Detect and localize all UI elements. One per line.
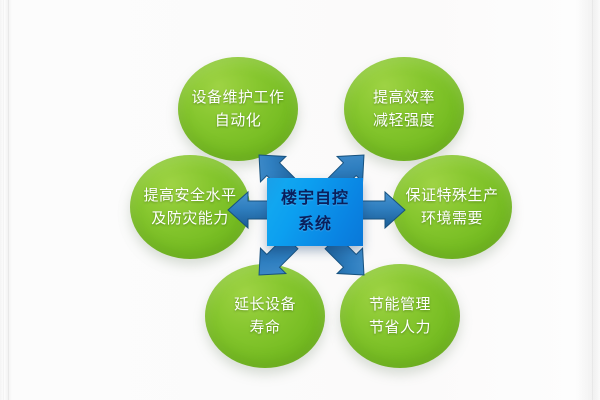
center-node-line-2: 系统 — [298, 213, 332, 237]
bubble-right-line-2: 环境需要 — [421, 207, 483, 230]
bubble-top-right-line-2: 减轻强度 — [373, 109, 435, 132]
bubble-left-line-2: 及防灾能力 — [151, 207, 229, 230]
bubble-right[interactable]: 保证特殊生产 环境需要 — [392, 155, 512, 259]
bubble-top-left-line-1: 设备维护工作 — [191, 86, 284, 109]
arrow-right-icon — [357, 186, 407, 234]
bubble-bottom-left-line-2: 寿命 — [249, 316, 280, 339]
bubble-top-right-line-1: 提高效率 — [373, 86, 435, 109]
bubble-top-left-line-2: 自动化 — [215, 109, 262, 132]
edge-line-decoration — [8, 0, 9, 400]
bubble-left-line-1: 提高安全水平 — [143, 184, 236, 207]
diagram-canvas: 设备维护工作 自动化 提高效率 减轻强度 提高安全水平 及防灾能力 保证特殊生产… — [0, 0, 600, 400]
center-node[interactable]: 楼宇自控 系统 — [267, 178, 363, 246]
edge-line-decoration — [3, 0, 4, 400]
bubble-right-line-1: 保证特殊生产 — [405, 184, 498, 207]
bubble-bottom-left-line-1: 延长设备 — [234, 293, 296, 316]
edge-line-decoration — [592, 0, 593, 400]
bubble-bottom-right-line-1: 节能管理 — [369, 293, 431, 316]
center-node-line-1: 楼宇自控 — [281, 187, 349, 211]
bubble-bottom-right-line-2: 节省人力 — [369, 316, 431, 339]
